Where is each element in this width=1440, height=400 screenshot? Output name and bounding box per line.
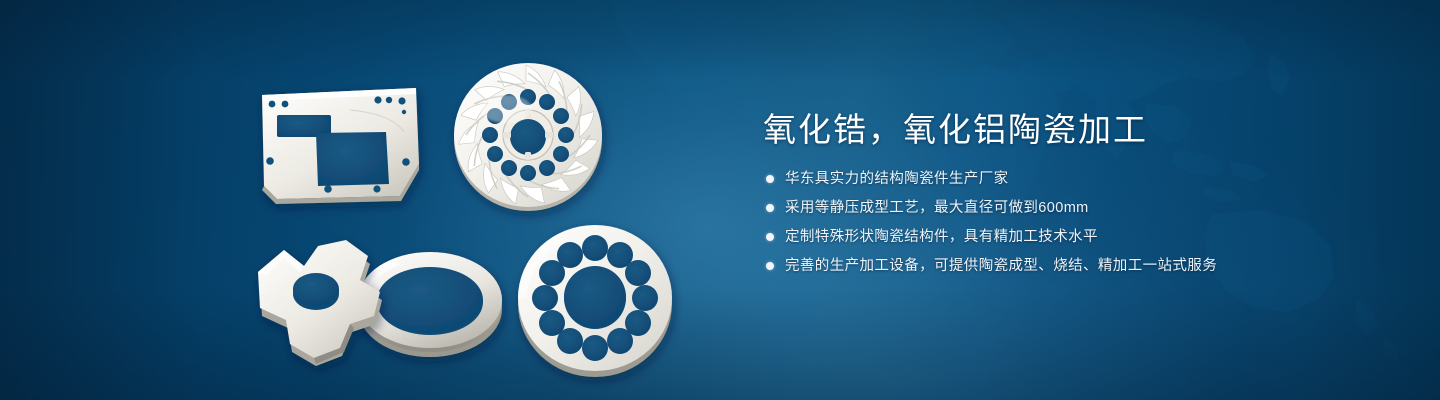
list-item: 华东具实力的结构陶瓷件生产厂家 [763, 168, 1383, 190]
ceramic-plate-with-cutouts [262, 88, 419, 204]
bullet-dot-icon [766, 175, 774, 183]
list-item: 完善的生产加工设备，可提供陶瓷成型、烧结、精加工一站式服务 [763, 255, 1383, 277]
feature-text: 定制特殊形状陶瓷结构件，具有精加工技术水平 [785, 226, 1098, 248]
feature-list: 华东具实力的结构陶瓷件生产厂家 采用等静压成型工艺，最大直径可做到600mm 定… [763, 168, 1383, 277]
ceramic-impeller-rotor [454, 63, 602, 211]
ceramic-perforated-disc [518, 225, 672, 377]
feature-text: 完善的生产加工设备，可提供陶瓷成型、烧结、精加工一站式服务 [785, 255, 1217, 277]
feature-text: 采用等静压成型工艺，最大直径可做到600mm [785, 197, 1089, 219]
list-item: 采用等静压成型工艺，最大直径可做到600mm [763, 197, 1383, 219]
hero-banner: 氧化锆，氧化铝陶瓷加工 华东具实力的结构陶瓷件生产厂家 采用等静压成型工艺，最大… [0, 0, 1440, 400]
page-title: 氧化锆，氧化铝陶瓷加工 [763, 108, 1383, 152]
ceramic-product-group [0, 0, 720, 400]
bullet-dot-icon [766, 262, 774, 270]
list-item: 定制特殊形状陶瓷结构件，具有精加工技术水平 [763, 226, 1383, 248]
bullet-dot-icon [766, 233, 774, 241]
bullet-dot-icon [766, 204, 774, 212]
ceramic-cross-plate [258, 240, 382, 366]
banner-copy: 氧化锆，氧化铝陶瓷加工 华东具实力的结构陶瓷件生产厂家 采用等静压成型工艺，最大… [763, 108, 1383, 284]
feature-text: 华东具实力的结构陶瓷件生产厂家 [785, 168, 1009, 190]
